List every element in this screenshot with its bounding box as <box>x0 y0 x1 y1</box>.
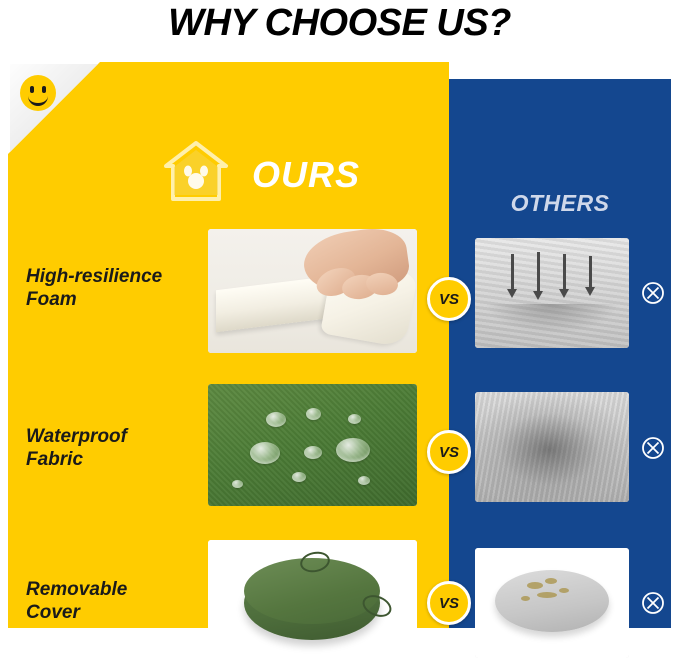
down-arrow-icon <box>537 252 540 292</box>
vs-badge-1: VS <box>427 277 471 321</box>
ours-image-high-resilience-foam <box>208 229 417 353</box>
feature-label-foam: High-resilienceFoam <box>26 265 204 311</box>
water-droplet-icon <box>348 414 361 424</box>
water-droplet-icon <box>336 438 370 462</box>
others-image-soaked-fabric <box>475 392 629 502</box>
down-arrow-icon <box>511 254 514 290</box>
others-image-flat-padding <box>475 238 629 348</box>
ours-image-removable-cover <box>208 540 417 662</box>
others-image-stained-cushion <box>475 548 629 658</box>
others-heading: OTHERS <box>449 190 671 217</box>
water-droplet-icon <box>266 412 286 427</box>
water-droplet-icon <box>306 408 321 420</box>
compression-dent <box>485 304 619 334</box>
vs-badge-2: VS <box>427 430 471 474</box>
others-panel <box>449 79 671 628</box>
circled-x-icon <box>641 436 665 460</box>
ours-heading: OURS <box>252 154 360 196</box>
down-arrow-icon <box>563 254 566 290</box>
page-title: WHY CHOOSE US? <box>0 2 679 45</box>
water-droplet-icon <box>358 476 370 485</box>
smiley-face-icon <box>20 75 56 111</box>
feature-label-fabric: WaterproofFabric <box>26 425 204 471</box>
circled-x-icon <box>641 591 665 615</box>
stain-mark <box>527 582 543 589</box>
peeled-corner-fold <box>10 64 98 152</box>
ours-image-waterproof-fabric <box>208 384 417 506</box>
smiley-mouth-icon <box>28 92 48 106</box>
vs-badge-3: VS <box>427 581 471 625</box>
water-droplet-icon <box>292 472 306 482</box>
feature-label-cover: RemovableCover <box>26 578 204 624</box>
stain-mark <box>559 588 569 593</box>
house-pet-logo-icon <box>163 140 229 202</box>
wet-fabric-texture <box>475 392 629 502</box>
ours-panel: OURS High-resilienceFoam WaterproofFabri… <box>8 62 449 628</box>
water-droplet-icon <box>232 480 243 488</box>
stain-mark <box>537 592 557 598</box>
comparison-board: OTHERS <box>8 62 671 628</box>
stain-mark <box>545 578 557 584</box>
stain-mark <box>521 596 530 601</box>
down-arrow-icon <box>589 256 592 288</box>
water-droplet-icon <box>250 442 280 464</box>
water-droplet-icon <box>304 446 322 459</box>
circled-x-icon <box>641 281 665 305</box>
